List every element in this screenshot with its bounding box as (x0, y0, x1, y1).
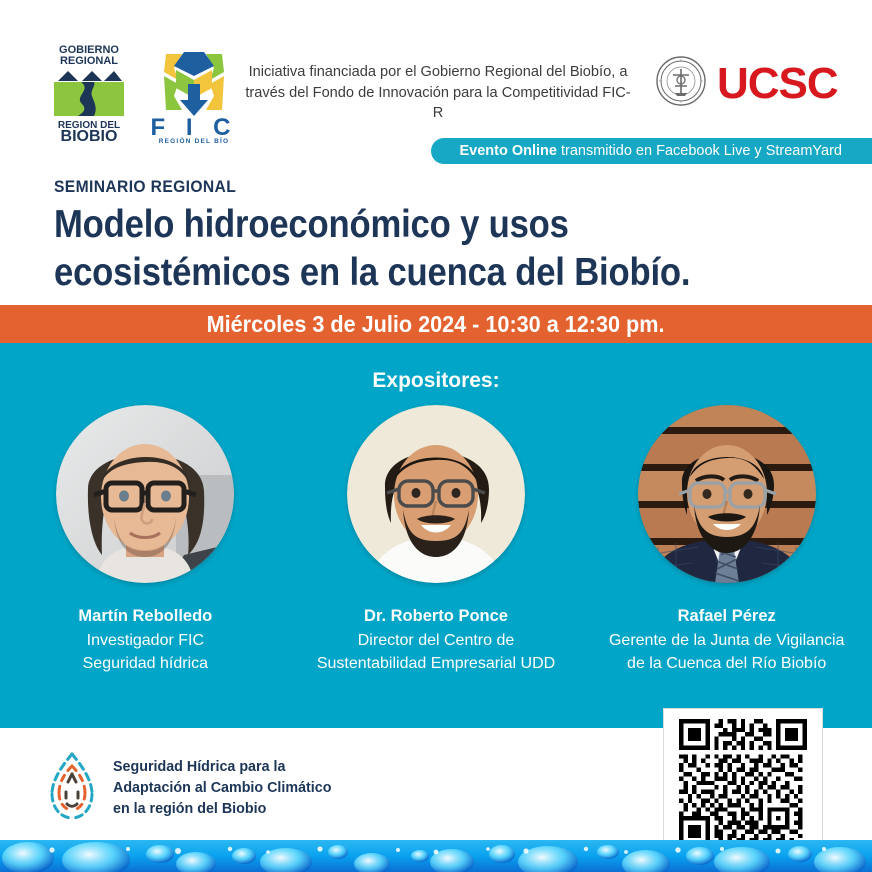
fic-logo: F I C REGIÓN DEL BÍO (148, 42, 240, 144)
event-badge-strong: Evento Online (459, 143, 557, 159)
portrait-roberto-ponce (347, 405, 525, 583)
speaker-role: Investigador FIC Seguridad hídrica (83, 629, 208, 675)
speakers-section: Expositores: (0, 343, 872, 728)
water-droplet-icon (44, 750, 100, 827)
fic-letters: F I C (151, 114, 238, 141)
portrait-martin-rebolledo (56, 405, 234, 583)
gore-logo-line4: BIOBIO (61, 128, 118, 142)
event-online-badge: Evento Online transmitido en Facebook Li… (431, 138, 872, 164)
water-bubbles-strip (0, 840, 872, 872)
speaker-name: Martín Rebolledo (78, 607, 212, 626)
poster-footer: Seguridad Hídrica para la Adaptación al … (0, 728, 872, 840)
speaker-role: Gerente de la Junta de Vigilancia de la … (609, 629, 844, 675)
gobierno-regional-biobio-logo: GOBIERNO REGIONAL REGION DEL BIOBIO (48, 40, 130, 142)
speakers-list: Martín Rebolledo Investigador FIC Seguri… (0, 405, 872, 675)
date-bar: Miércoles 3 de Julio 2024 - 10:30 a 12:3… (0, 305, 872, 343)
ucsc-logo: UCSC (655, 55, 838, 112)
funding-statement: Iniciativa financiada por el Gobierno Re… (243, 62, 633, 124)
speaker-role: Director del Centro de Sustentabilidad E… (317, 629, 555, 675)
speaker-name: Dr. Roberto Ponce (364, 607, 508, 626)
portrait-rafael-perez (638, 405, 816, 583)
qr-code[interactable] (663, 708, 823, 858)
program-logo-row: Seguridad Hídrica para la Adaptación al … (44, 750, 331, 827)
title-block: SEMINARIO REGIONAL Modelo hidroeconómico… (0, 165, 872, 305)
ucsc-wordmark: UCSC (717, 62, 838, 106)
speaker-card: Martín Rebolledo Investigador FIC Seguri… (0, 405, 291, 675)
speaker-name: Rafael Pérez (678, 607, 776, 626)
ucsc-seal-icon (655, 55, 707, 112)
program-name: Seguridad Hídrica para la Adaptación al … (113, 757, 331, 820)
seminar-kicker: SEMINARIO REGIONAL (54, 177, 236, 197)
event-poster: GOBIERNO REGIONAL REGION DEL BIOBIO (0, 0, 872, 872)
speaker-card: Dr. Roberto Ponce Director del Centro de… (291, 405, 582, 675)
page-title: Modelo hidroeconómico y usos ecosistémic… (54, 201, 774, 296)
date-text: Miércoles 3 de Julio 2024 - 10:30 a 12:3… (207, 311, 665, 338)
fic-subtitle: REGIÓN DEL BÍO (159, 136, 230, 144)
gore-logo-line2: REGIONAL (60, 55, 118, 67)
speaker-card: Rafael Pérez Gerente de la Junta de Vigi… (581, 405, 872, 675)
speakers-heading: Expositores: (0, 369, 872, 393)
event-badge-rest: transmitido en Facebook Live y StreamYar… (561, 143, 842, 159)
